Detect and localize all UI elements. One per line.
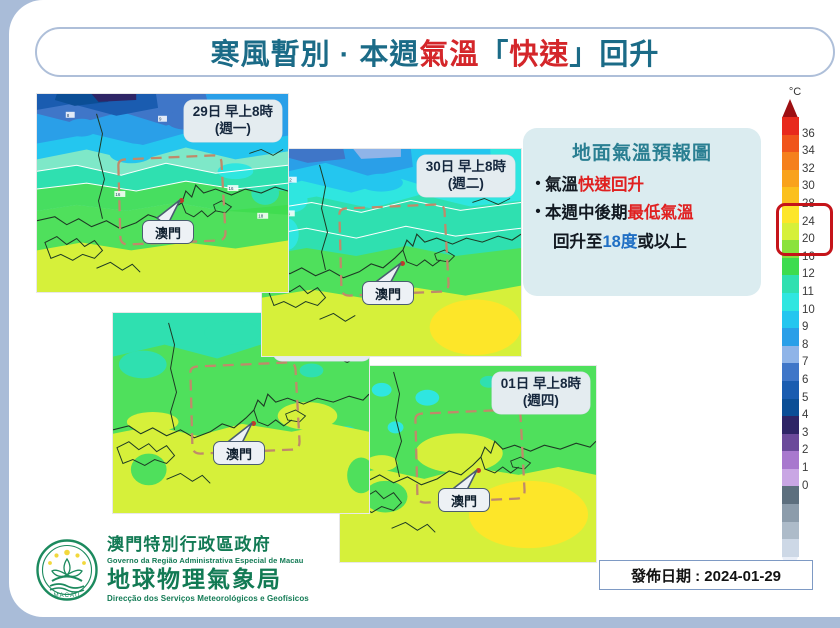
logo-text-block: 澳門特別行政區政府 Governo da Região Administrati… <box>107 535 309 605</box>
colorbar-cell-7 <box>782 240 799 258</box>
date-label-day4: 01日 早上8時 (週四) <box>492 372 590 414</box>
info-bullet-2-text: 本週中後期最低氣溫 <box>545 202 753 224</box>
date-label-day2-date: 30日 早上8時 <box>426 158 506 175</box>
svg-text:16: 16 <box>115 192 120 197</box>
colorbar-cell-24 <box>782 539 799 557</box>
colorbar-tick-2: 2 <box>802 445 808 457</box>
colorbar-cell-13 <box>782 346 799 364</box>
colorbar-cell-3 <box>782 170 799 188</box>
svg-text:16: 16 <box>228 186 233 191</box>
bullet-dot-1: • <box>531 174 545 194</box>
colorbar-cell-8 <box>782 258 799 276</box>
colorbar-unit-label: °C <box>780 86 810 98</box>
title-segment-3: 「 <box>479 39 509 71</box>
date-label-day1-date: 29日 早上8時 <box>193 103 273 120</box>
colorbar-tick-6: 6 <box>802 375 808 387</box>
issue-date-box: 發佈日期 : 2024-01-29 <box>599 560 813 590</box>
info-bullet-1-text: 氣溫快速回升 <box>545 174 753 196</box>
colorbar-tick-24: 24 <box>802 217 815 229</box>
macau-callout-day2-label: 澳門 <box>375 284 401 303</box>
logo-government-pt: Governo da Região Administrativa Especia… <box>107 555 309 566</box>
colorbar-cells <box>782 117 799 557</box>
colorbar-cell-12 <box>782 328 799 346</box>
colorbar-tick-11: 11 <box>802 287 814 299</box>
date-label-day1: 29日 早上8時 (週一) <box>184 100 282 142</box>
info-bullet-2-plain: 本週中後期 <box>545 204 628 222</box>
colorbar-cell-19 <box>782 451 799 469</box>
colorbar-cell-18 <box>782 434 799 452</box>
date-label-day2: 30日 早上8時 (週二) <box>417 155 515 197</box>
info-bullet-2: • 本週中後期最低氣溫 <box>531 202 753 224</box>
colorbar-cell-11 <box>782 311 799 329</box>
colorbar-tick-34: 34 <box>802 146 815 158</box>
title-segment-4: 快速 <box>509 39 569 71</box>
info-line-3: 回升至18度或以上 <box>531 231 753 253</box>
macau-government-emblem-icon: MACAU <box>36 539 98 601</box>
forecast-map-day4[interactable]: 01日 早上8時 (週四) 澳門 <box>339 365 597 563</box>
date-label-day2-weekday: (週二) <box>426 175 506 192</box>
colorbar-tick-4: 4 <box>802 410 808 422</box>
svg-text:18: 18 <box>258 214 263 219</box>
info-bullet-1: • 氣溫快速回升 <box>531 174 753 196</box>
date-label-day1-weekday: (週一) <box>193 120 273 137</box>
smg-logo-block: MACAU 澳門特別行政區政府 Governo da Região Admini… <box>36 535 309 605</box>
info-line-3-plain2: 或以上 <box>637 233 687 251</box>
colorbar-cell-9 <box>782 275 799 293</box>
forecast-map-day1[interactable]: 8 9 16 16 18 29日 早上8時 (週一) 澳門 <box>36 93 289 293</box>
colorbar-cell-1 <box>782 135 799 153</box>
info-bullet-1-highlight: 快速回升 <box>578 176 644 194</box>
colorbar-tick-3: 3 <box>802 428 808 440</box>
colorbar-tick-9: 9 <box>802 322 808 334</box>
info-panel-heading: 地面氣溫預報圖 <box>531 138 753 165</box>
macau-callout-day4-label: 澳門 <box>451 491 477 510</box>
title-segment-2: 氣溫 <box>419 39 479 71</box>
colorbar-tick-10: 10 <box>802 305 815 317</box>
colorbar-tick-1: 1 <box>802 463 808 475</box>
colorbar-cell-2 <box>782 152 799 170</box>
colorbar-tick-0: 0 <box>802 481 808 493</box>
colorbar-cell-10 <box>782 293 799 311</box>
page-content-area: 寒風暫別 · 本週氣溫「快速」回升 <box>9 0 840 617</box>
info-bullet-2-highlight: 最低氣溫 <box>628 204 694 222</box>
colorbar-tick-7: 7 <box>802 357 808 369</box>
issue-date-text: 發佈日期 : 2024-01-29 <box>631 565 781 586</box>
title-segment-1: 寒風暫別 · 本週 <box>211 39 420 71</box>
colorbar-cell-21 <box>782 486 799 504</box>
info-line-3-highlight: 18度 <box>603 233 638 251</box>
colorbar-tick-36: 36 <box>802 129 815 141</box>
emblem-macau-text: MACAU <box>54 593 81 599</box>
colorbar-cell-17 <box>782 416 799 434</box>
macau-callout-day3-label: 澳門 <box>226 444 252 463</box>
colorbar-tick-32: 32 <box>802 164 815 176</box>
colorbar-tick-20: 20 <box>802 234 815 246</box>
colorbar-cell-6 <box>782 223 799 241</box>
macau-callout-day2: 澳門 <box>362 281 414 305</box>
colorbar-cell-0 <box>782 117 799 135</box>
colorbar-tick-12: 12 <box>802 269 815 281</box>
title-segment-5: 」回升 <box>569 39 659 71</box>
macau-callout-day1-label: 澳門 <box>155 223 181 242</box>
date-label-day4-weekday: (週四) <box>501 392 581 409</box>
colorbar-cell-4 <box>782 187 799 205</box>
info-panel: 地面氣溫預報圖 • 氣溫快速回升 • 本週中後期最低氣溫 回升至18度或以上 <box>523 128 761 296</box>
colorbar-tick-16: 16 <box>802 252 815 264</box>
info-bullet-1-plain: 氣溫 <box>545 176 578 194</box>
temperature-colorbar: °C 36343230282420161211109876543210 <box>772 86 838 556</box>
page-title: 寒風暫別 · 本週氣溫「快速」回升 <box>211 31 660 73</box>
colorbar-cell-14 <box>782 363 799 381</box>
colorbar-cell-15 <box>782 381 799 399</box>
colorbar-cell-20 <box>782 469 799 487</box>
colorbar-tick-8: 8 <box>802 340 808 352</box>
logo-government-zh: 澳門特別行政區政府 <box>107 535 309 555</box>
colorbar-tick-30: 30 <box>802 181 815 193</box>
colorbar-cell-5 <box>782 205 799 223</box>
colorbar-cell-22 <box>782 504 799 522</box>
info-line-3-plain1: 回升至 <box>553 233 603 251</box>
headline-banner: 寒風暫別 · 本週氣溫「快速」回升 <box>35 27 835 77</box>
colorbar-cell-16 <box>782 399 799 417</box>
colorbar-tick-28: 28 <box>802 199 815 211</box>
logo-department-zh: 地球物理氣象局 <box>107 567 309 593</box>
logo-department-pt: Direcção dos Serviços Meteorológicos e G… <box>107 593 309 605</box>
date-label-day4-date: 01日 早上8時 <box>501 375 581 392</box>
macau-callout-day1: 澳門 <box>142 220 194 244</box>
page-background: 寒風暫別 · 本週氣溫「快速」回升 <box>0 0 840 628</box>
colorbar-top-arrow-icon <box>782 99 798 118</box>
macau-callout-day3: 澳門 <box>213 441 265 465</box>
bullet-dot-2: • <box>531 202 545 222</box>
macau-callout-day4: 澳門 <box>438 488 490 512</box>
colorbar-tick-5: 5 <box>802 393 808 405</box>
forecast-map-day2[interactable]: 12 13 13 30日 早上8時 (週二) 澳門 <box>261 148 522 357</box>
colorbar-cell-23 <box>782 522 799 540</box>
